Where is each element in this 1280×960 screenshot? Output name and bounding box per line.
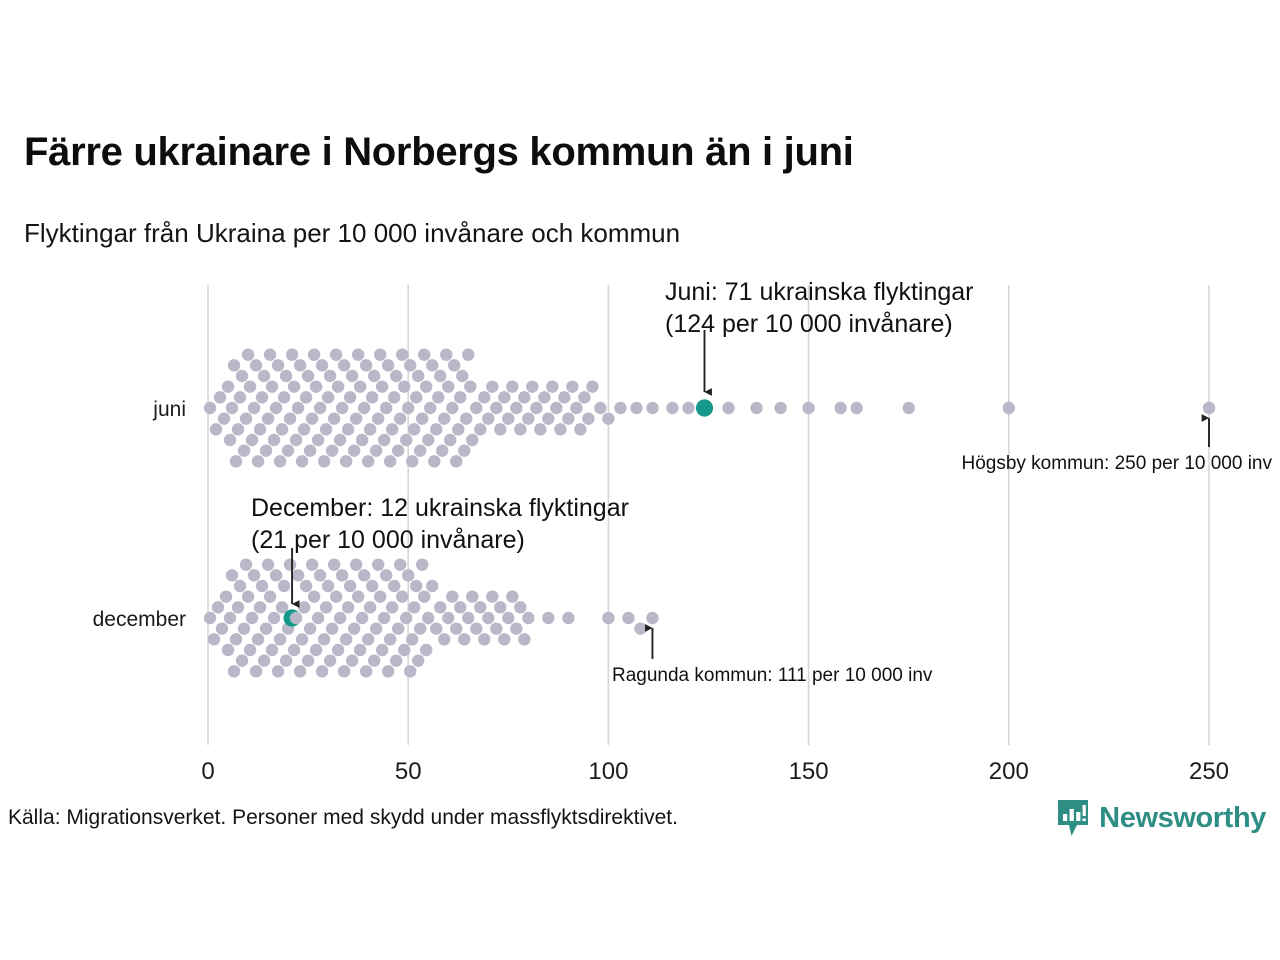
swarm-dot[interactable]	[368, 370, 380, 382]
swarm-dot[interactable]	[402, 569, 414, 581]
swarm-dot[interactable]	[386, 601, 398, 613]
swarm-dot[interactable]	[252, 633, 264, 645]
swarm-dot[interactable]	[506, 590, 518, 602]
swarm-dot[interactable]	[426, 580, 438, 592]
swarm-dot[interactable]	[416, 558, 428, 570]
swarm-dot[interactable]	[258, 654, 270, 666]
swarm-dot[interactable]	[272, 359, 284, 371]
swarm-dot[interactable]	[364, 601, 376, 613]
swarm-dot[interactable]	[490, 622, 502, 634]
swarm-dot[interactable]	[494, 601, 506, 613]
swarm-dot[interactable]	[232, 423, 244, 435]
swarm-dot[interactable]	[594, 402, 606, 414]
swarm-dot[interactable]	[474, 601, 486, 613]
swarm-dot[interactable]	[246, 612, 258, 624]
swarm-dot[interactable]	[222, 644, 234, 656]
swarm-dot[interactable]	[328, 558, 340, 570]
swarm-dot[interactable]	[264, 590, 276, 602]
swarm-dot[interactable]	[344, 391, 356, 403]
swarm-dot[interactable]	[486, 380, 498, 392]
swarm-dot[interactable]	[388, 580, 400, 592]
swarm-dot[interactable]	[448, 359, 460, 371]
swarm-dot[interactable]	[230, 455, 242, 467]
swarm-dot[interactable]	[234, 580, 246, 592]
swarm-dot[interactable]	[418, 348, 430, 360]
swarm-dot[interactable]	[360, 359, 372, 371]
swarm-dot[interactable]	[352, 348, 364, 360]
swarm-dot[interactable]	[294, 359, 306, 371]
swarm-dot[interactable]	[348, 622, 360, 634]
swarm-dot[interactable]	[430, 423, 442, 435]
swarm-dot[interactable]	[328, 412, 340, 424]
swarm-dot[interactable]	[224, 612, 236, 624]
swarm-dot[interactable]	[332, 644, 344, 656]
swarm-dot[interactable]	[370, 622, 382, 634]
swarm-dot[interactable]	[456, 370, 468, 382]
swarm-dot[interactable]	[288, 380, 300, 392]
swarm-dot[interactable]	[420, 380, 432, 392]
swarm-dot[interactable]	[398, 380, 410, 392]
swarm-dot[interactable]	[364, 423, 376, 435]
swarm-dot[interactable]	[722, 402, 734, 414]
swarm-dot[interactable]	[222, 380, 234, 392]
swarm-dot[interactable]	[252, 455, 264, 467]
swarm-dot[interactable]	[262, 558, 274, 570]
swarm-dot[interactable]	[1003, 402, 1015, 414]
swarm-dot[interactable]	[342, 423, 354, 435]
swarm-dot[interactable]	[308, 590, 320, 602]
swarm-dot[interactable]	[442, 612, 454, 624]
swarm-dot[interactable]	[466, 590, 478, 602]
swarm-dot[interactable]	[482, 412, 494, 424]
swarm-dot[interactable]	[330, 348, 342, 360]
swarm-dot[interactable]	[362, 455, 374, 467]
swarm-dot[interactable]	[404, 665, 416, 677]
swarm-dot[interactable]	[326, 444, 338, 456]
swarm-dot[interactable]	[460, 412, 472, 424]
swarm-dot[interactable]	[264, 348, 276, 360]
swarm-dot[interactable]	[322, 391, 334, 403]
swarm-dot[interactable]	[514, 423, 526, 435]
swarm-dot[interactable]	[410, 580, 422, 592]
swarm-dot[interactable]	[630, 402, 642, 414]
swarm-dot[interactable]	[498, 633, 510, 645]
swarm-dot[interactable]	[344, 580, 356, 592]
swarm-dot[interactable]	[238, 444, 250, 456]
swarm-dot[interactable]	[320, 423, 332, 435]
swarm-dot[interactable]	[482, 612, 494, 624]
highlight-dot-juni[interactable]	[696, 399, 713, 416]
swarm-dot[interactable]	[416, 412, 428, 424]
swarm-dot[interactable]	[286, 348, 298, 360]
swarm-dot[interactable]	[394, 412, 406, 424]
swarm-dot[interactable]	[396, 590, 408, 602]
swarm-dot[interactable]	[218, 412, 230, 424]
swarm-dot[interactable]	[378, 434, 390, 446]
swarm-dot[interactable]	[374, 348, 386, 360]
swarm-dot[interactable]	[458, 444, 470, 456]
swarm-dot[interactable]	[400, 612, 412, 624]
swarm-dot[interactable]	[464, 380, 476, 392]
swarm-dot[interactable]	[298, 423, 310, 435]
swarm-dot[interactable]	[312, 434, 324, 446]
swarm-dot[interactable]	[338, 665, 350, 677]
swarm-dot[interactable]	[400, 434, 412, 446]
swarm-dot[interactable]	[242, 348, 254, 360]
swarm-dot[interactable]	[334, 612, 346, 624]
swarm-dot[interactable]	[392, 622, 404, 634]
swarm-dot[interactable]	[340, 455, 352, 467]
swarm-dot[interactable]	[376, 380, 388, 392]
swarm-dot[interactable]	[490, 402, 502, 414]
swarm-dot[interactable]	[212, 601, 224, 613]
swarm-dot[interactable]	[314, 569, 326, 581]
swarm-dot[interactable]	[386, 423, 398, 435]
swarm-dot[interactable]	[570, 402, 582, 414]
swarm-dot[interactable]	[444, 434, 456, 446]
swarm-dot[interactable]	[486, 590, 498, 602]
swarm-dot[interactable]	[348, 444, 360, 456]
swarm-dot[interactable]	[234, 391, 246, 403]
swarm-dot[interactable]	[342, 601, 354, 613]
swarm-dot[interactable]	[418, 590, 430, 602]
swarm-dot[interactable]	[378, 612, 390, 624]
swarm-dot[interactable]	[646, 612, 658, 624]
swarm-dot[interactable]	[352, 590, 364, 602]
swarm-dot[interactable]	[270, 569, 282, 581]
swarm-dot[interactable]	[322, 580, 334, 592]
swarm-dot[interactable]	[834, 402, 846, 414]
swarm-dot[interactable]	[236, 370, 248, 382]
swarm-dot[interactable]	[240, 558, 252, 570]
swarm-dot[interactable]	[366, 391, 378, 403]
swarm-dot[interactable]	[390, 654, 402, 666]
swarm-dot[interactable]	[238, 622, 250, 634]
swarm-dot[interactable]	[634, 622, 646, 634]
swarm-dot[interactable]	[562, 612, 574, 624]
swarm-dot[interactable]	[244, 380, 256, 392]
swarm-dot[interactable]	[308, 348, 320, 360]
swarm-dot[interactable]	[550, 402, 562, 414]
swarm-dot[interactable]	[278, 580, 290, 592]
swarm-dot[interactable]	[396, 348, 408, 360]
swarm-dot[interactable]	[542, 612, 554, 624]
swarm-dot[interactable]	[534, 423, 546, 435]
swarm-dot[interactable]	[336, 402, 348, 414]
swarm-dot[interactable]	[574, 423, 586, 435]
swarm-dot[interactable]	[304, 622, 316, 634]
swarm-dot[interactable]	[256, 580, 268, 592]
swarm-dot[interactable]	[614, 402, 626, 414]
swarm-dot[interactable]	[408, 423, 420, 435]
swarm-dot[interactable]	[414, 622, 426, 634]
swarm-dot[interactable]	[558, 391, 570, 403]
swarm-dot[interactable]	[382, 665, 394, 677]
swarm-dot[interactable]	[326, 622, 338, 634]
swarm-dot[interactable]	[372, 412, 384, 424]
swarm-dot[interactable]	[478, 633, 490, 645]
swarm-dot[interactable]	[346, 370, 358, 382]
swarm-dot[interactable]	[284, 558, 296, 570]
swarm-dot[interactable]	[262, 412, 274, 424]
swarm-dot[interactable]	[306, 412, 318, 424]
swarm-dot[interactable]	[310, 644, 322, 656]
swarm-dot[interactable]	[384, 633, 396, 645]
swarm-dot[interactable]	[434, 370, 446, 382]
swarm-dot[interactable]	[538, 391, 550, 403]
swarm-dot[interactable]	[270, 402, 282, 414]
swarm-dot[interactable]	[356, 434, 368, 446]
swarm-dot[interactable]	[268, 434, 280, 446]
swarm-dot[interactable]	[458, 633, 470, 645]
swarm-dot[interactable]	[554, 423, 566, 435]
swarm-dot[interactable]	[494, 423, 506, 435]
swarm-dot[interactable]	[306, 558, 318, 570]
swarm-dot[interactable]	[346, 654, 358, 666]
swarm-dot[interactable]	[324, 654, 336, 666]
swarm-dot[interactable]	[498, 391, 510, 403]
swarm-dot[interactable]	[522, 612, 534, 624]
swarm-dot[interactable]	[903, 402, 915, 414]
swarm-dot[interactable]	[318, 633, 330, 645]
swarm-dot[interactable]	[258, 370, 270, 382]
swarm-dot[interactable]	[518, 633, 530, 645]
swarm-dot[interactable]	[426, 359, 438, 371]
swarm-dot[interactable]	[510, 622, 522, 634]
swarm-dot[interactable]	[266, 380, 278, 392]
swarm-dot[interactable]	[334, 434, 346, 446]
swarm-dot[interactable]	[324, 370, 336, 382]
swarm-dot[interactable]	[392, 444, 404, 456]
swarm-dot[interactable]	[350, 558, 362, 570]
swarm-dot[interactable]	[280, 370, 292, 382]
swarm-dot[interactable]	[246, 434, 258, 446]
swarm-dot[interactable]	[402, 402, 414, 414]
swarm-dot[interactable]	[452, 423, 464, 435]
swarm-dot[interactable]	[224, 434, 236, 446]
swarm-dot[interactable]	[410, 391, 422, 403]
swarm-dot[interactable]	[204, 402, 216, 414]
swarm-dot[interactable]	[256, 391, 268, 403]
swarm-dot[interactable]	[300, 391, 312, 403]
swarm-dot[interactable]	[374, 590, 386, 602]
swarm-dot[interactable]	[232, 601, 244, 613]
swarm-dot[interactable]	[372, 558, 384, 570]
swarm-dot[interactable]	[1203, 402, 1215, 414]
swarm-dot[interactable]	[250, 665, 262, 677]
swarm-dot[interactable]	[454, 601, 466, 613]
swarm-dot[interactable]	[450, 622, 462, 634]
swarm-dot[interactable]	[454, 391, 466, 403]
swarm-dot[interactable]	[274, 455, 286, 467]
swarm-dot[interactable]	[268, 612, 280, 624]
swarm-dot[interactable]	[438, 412, 450, 424]
swarm-dot[interactable]	[450, 455, 462, 467]
swarm-dot[interactable]	[214, 391, 226, 403]
swarm-dot[interactable]	[248, 569, 260, 581]
swarm-dot[interactable]	[502, 612, 514, 624]
swarm-dot[interactable]	[332, 380, 344, 392]
swarm-dot[interactable]	[208, 633, 220, 645]
swarm-dot[interactable]	[292, 402, 304, 414]
swarm-dot[interactable]	[226, 569, 238, 581]
swarm-dot[interactable]	[240, 412, 252, 424]
swarm-dot[interactable]	[514, 601, 526, 613]
swarm-dot[interactable]	[290, 612, 302, 624]
swarm-dot[interactable]	[248, 402, 260, 414]
swarm-dot[interactable]	[220, 590, 232, 602]
swarm-dot[interactable]	[298, 601, 310, 613]
swarm-dot[interactable]	[412, 370, 424, 382]
swarm-dot[interactable]	[382, 359, 394, 371]
swarm-dot[interactable]	[362, 633, 374, 645]
swarm-dot[interactable]	[474, 423, 486, 435]
swarm-dot[interactable]	[254, 601, 266, 613]
swarm-dot[interactable]	[226, 402, 238, 414]
swarm-dot[interactable]	[430, 622, 442, 634]
swarm-dot[interactable]	[310, 380, 322, 392]
swarm-dot[interactable]	[394, 558, 406, 570]
swarm-dot[interactable]	[586, 380, 598, 392]
swarm-dot[interactable]	[666, 402, 678, 414]
swarm-dot[interactable]	[438, 633, 450, 645]
swarm-dot[interactable]	[228, 665, 240, 677]
swarm-dot[interactable]	[336, 569, 348, 581]
swarm-dot[interactable]	[284, 412, 296, 424]
swarm-dot[interactable]	[236, 654, 248, 666]
swarm-dot[interactable]	[300, 580, 312, 592]
swarm-dot[interactable]	[380, 402, 392, 414]
swarm-dot[interactable]	[368, 654, 380, 666]
swarm-dot[interactable]	[850, 402, 862, 414]
swarm-dot[interactable]	[408, 601, 420, 613]
swarm-dot[interactable]	[518, 391, 530, 403]
swarm-dot[interactable]	[510, 402, 522, 414]
swarm-dot[interactable]	[288, 644, 300, 656]
swarm-dot[interactable]	[404, 359, 416, 371]
swarm-dot[interactable]	[442, 380, 454, 392]
swarm-dot[interactable]	[478, 391, 490, 403]
swarm-dot[interactable]	[278, 391, 290, 403]
swarm-dot[interactable]	[802, 402, 814, 414]
swarm-dot[interactable]	[354, 644, 366, 656]
swarm-dot[interactable]	[522, 412, 534, 424]
swarm-dot[interactable]	[316, 359, 328, 371]
swarm-dot[interactable]	[546, 380, 558, 392]
swarm-dot[interactable]	[436, 444, 448, 456]
swarm-dot[interactable]	[350, 412, 362, 424]
swarm-dot[interactable]	[276, 423, 288, 435]
swarm-dot[interactable]	[266, 644, 278, 656]
swarm-dot[interactable]	[526, 380, 538, 392]
swarm-dot[interactable]	[542, 412, 554, 424]
swarm-dot[interactable]	[412, 654, 424, 666]
swarm-dot[interactable]	[216, 622, 228, 634]
swarm-dot[interactable]	[302, 654, 314, 666]
swarm-dot[interactable]	[314, 402, 326, 414]
swarm-dot[interactable]	[250, 359, 262, 371]
swarm-dot[interactable]	[260, 622, 272, 634]
swarm-dot[interactable]	[260, 444, 272, 456]
swarm-dot[interactable]	[446, 402, 458, 414]
swarm-dot[interactable]	[330, 590, 342, 602]
swarm-dot[interactable]	[358, 402, 370, 414]
swarm-dot[interactable]	[406, 633, 418, 645]
swarm-dot[interactable]	[304, 444, 316, 456]
swarm-dot[interactable]	[602, 612, 614, 624]
swarm-dot[interactable]	[462, 612, 474, 624]
swarm-dot[interactable]	[506, 380, 518, 392]
swarm-dot[interactable]	[432, 391, 444, 403]
swarm-dot[interactable]	[422, 434, 434, 446]
swarm-dot[interactable]	[294, 665, 306, 677]
swarm-dot[interactable]	[384, 455, 396, 467]
swarm-dot[interactable]	[470, 622, 482, 634]
swarm-dot[interactable]	[582, 412, 594, 424]
swarm-dot[interactable]	[302, 370, 314, 382]
swarm-dot[interactable]	[380, 569, 392, 581]
swarm-dot[interactable]	[602, 412, 614, 424]
swarm-dot[interactable]	[272, 665, 284, 677]
swarm-dot[interactable]	[566, 380, 578, 392]
swarm-dot[interactable]	[578, 391, 590, 403]
swarm-dot[interactable]	[340, 633, 352, 645]
swarm-dot[interactable]	[204, 612, 216, 624]
swarm-dot[interactable]	[398, 644, 410, 656]
swarm-dot[interactable]	[244, 644, 256, 656]
swarm-dot[interactable]	[312, 612, 324, 624]
swarm-dot[interactable]	[370, 444, 382, 456]
swarm-dot[interactable]	[502, 412, 514, 424]
swarm-dot[interactable]	[446, 590, 458, 602]
swarm-dot[interactable]	[316, 665, 328, 677]
swarm-dot[interactable]	[422, 612, 434, 624]
swarm-dot[interactable]	[466, 434, 478, 446]
swarm-dot[interactable]	[434, 601, 446, 613]
swarm-dot[interactable]	[646, 402, 658, 414]
swarm-dot[interactable]	[470, 402, 482, 414]
swarm-dot[interactable]	[292, 569, 304, 581]
swarm-dot[interactable]	[440, 348, 452, 360]
swarm-dot[interactable]	[360, 665, 372, 677]
swarm-dot[interactable]	[424, 402, 436, 414]
swarm-dot[interactable]	[414, 444, 426, 456]
swarm-dot[interactable]	[420, 644, 432, 656]
swarm-dot[interactable]	[682, 402, 694, 414]
swarm-dot[interactable]	[228, 359, 240, 371]
swarm-dot[interactable]	[230, 633, 242, 645]
swarm-dot[interactable]	[390, 370, 402, 382]
swarm-dot[interactable]	[406, 455, 418, 467]
swarm-dot[interactable]	[462, 348, 474, 360]
swarm-dot[interactable]	[280, 654, 292, 666]
swarm-dot[interactable]	[428, 455, 440, 467]
swarm-dot[interactable]	[622, 612, 634, 624]
swarm-dot[interactable]	[562, 412, 574, 424]
swarm-dot[interactable]	[254, 423, 266, 435]
swarm-dot[interactable]	[354, 380, 366, 392]
swarm-dot[interactable]	[388, 391, 400, 403]
swarm-dot[interactable]	[290, 434, 302, 446]
swarm-dot[interactable]	[356, 612, 368, 624]
swarm-dot[interactable]	[320, 601, 332, 613]
swarm-dot[interactable]	[282, 444, 294, 456]
swarm-dot[interactable]	[296, 633, 308, 645]
swarm-dot[interactable]	[242, 590, 254, 602]
swarm-dot[interactable]	[318, 455, 330, 467]
swarm-dot[interactable]	[376, 644, 388, 656]
swarm-dot[interactable]	[750, 402, 762, 414]
